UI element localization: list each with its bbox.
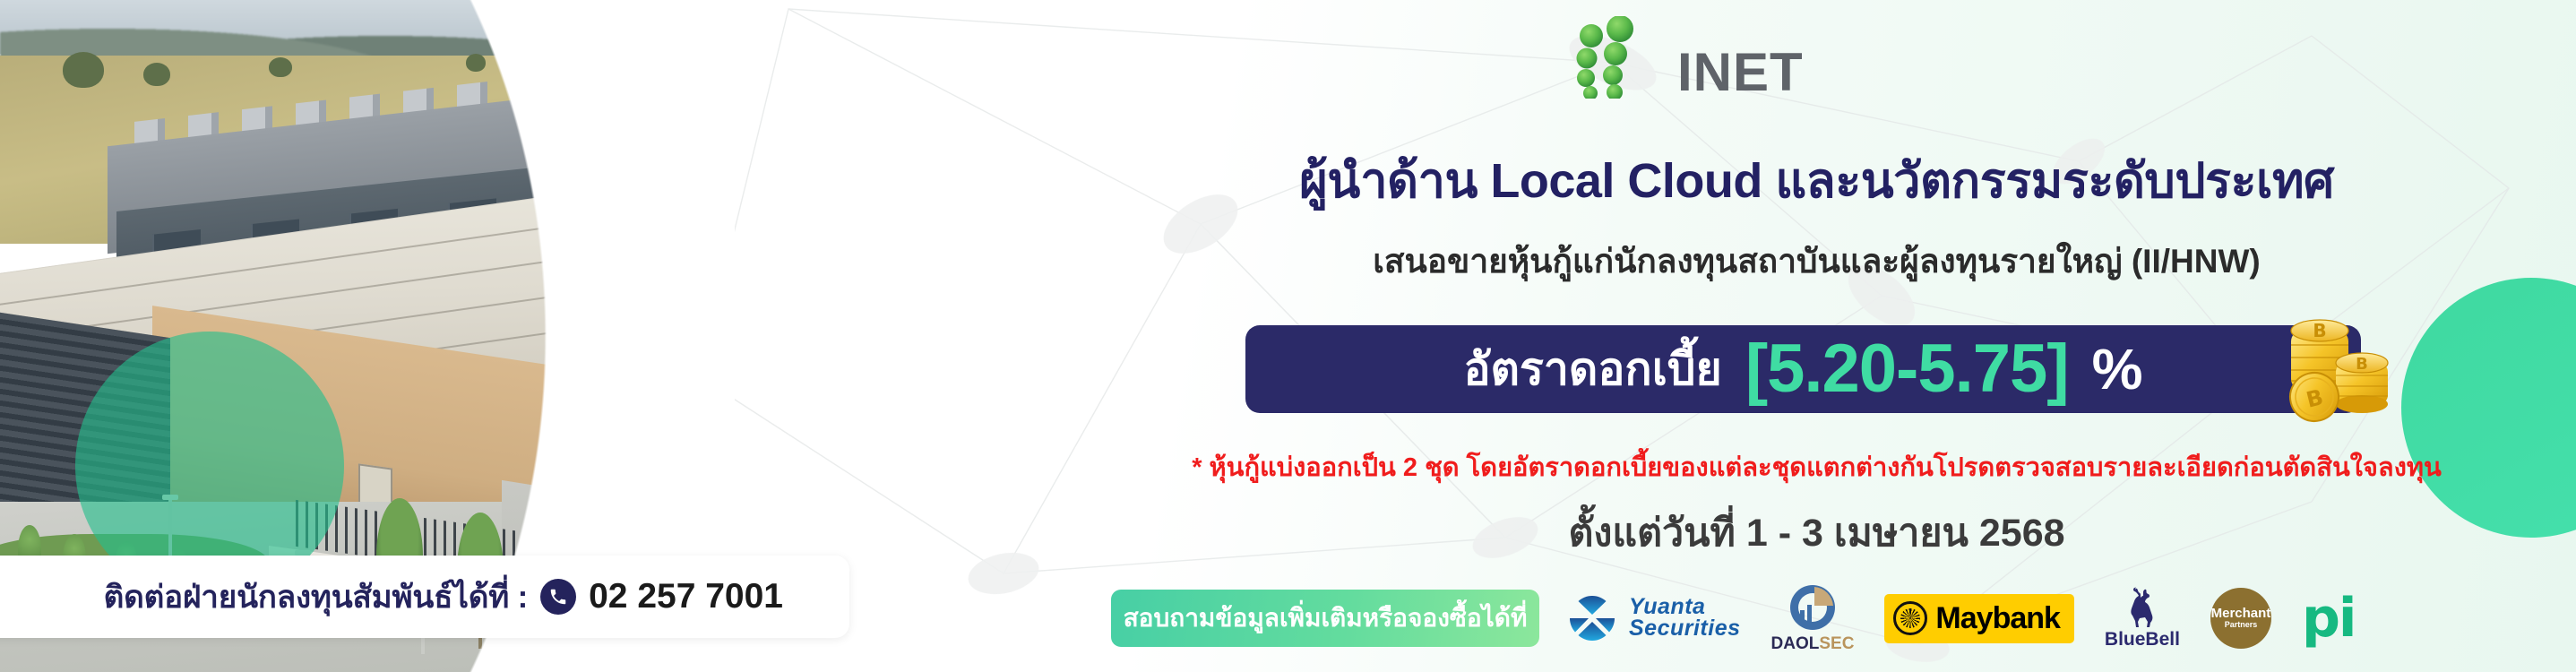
broker-logo-list: Yuanta Securities xyxy=(1566,583,2355,654)
phone-icon xyxy=(540,579,576,615)
daol-wordmark: DAOLSEC xyxy=(1771,634,1855,654)
broker-logo-yuanta-securities[interactable]: Yuanta Securities xyxy=(1566,592,1741,644)
cta-and-brokers-row: สอบถามข้อมูลเพิ่มเติมหรือจองซื้อได้ที่ xyxy=(1111,582,2545,654)
merchant-wordmark-line2: Partners xyxy=(2225,621,2258,629)
inet-logo-text: INET xyxy=(1677,41,1804,103)
broker-logo-merchant-partners[interactable]: Merchant Partners xyxy=(2210,588,2271,649)
broker-logo-pi-securities[interactable]: pi xyxy=(2302,597,2356,640)
broker-logo-bluebell[interactable]: BlueBell xyxy=(2105,587,2180,650)
svg-text:B: B xyxy=(2313,320,2326,341)
interest-rate-percent-sign: % xyxy=(2092,340,2143,398)
pi-wordmark: pi xyxy=(2302,597,2356,640)
yuanta-mark-icon xyxy=(1566,592,1618,644)
inet-bond-promo-banner: ติดต่อฝ่ายนักลงทุนสัมพันธ์ได้ที่ : 02 25… xyxy=(0,0,2576,672)
merchant-wordmark-line1: Merchant xyxy=(2211,607,2271,621)
contact-phone-number: 02 257 7001 xyxy=(589,577,783,616)
cta-label: สอบถามข้อมูลเพิ่มเติมหรือจองซื้อได้ที่ xyxy=(1124,599,1528,638)
content-column: INET ผู้นำด้าน Local Cloud และนวัตกรรมระ… xyxy=(1057,0,2576,672)
contact-label: ติดต่อฝ่ายนักลงทุนสัมพันธ์ได้ที่ : xyxy=(104,573,529,622)
inquire-subscribe-button[interactable]: สอบถามข้อมูลเพิ่มเติมหรือจองซื้อได้ที่ xyxy=(1111,590,1539,647)
bluebell-wordmark: BlueBell xyxy=(2105,629,2180,650)
broker-logo-maybank[interactable]: Maybank xyxy=(1884,594,2074,643)
offer-period: ตั้งแต่วันที่ 1 - 3 เมษายน 2568 xyxy=(1057,502,2576,563)
maybank-wordmark: Maybank xyxy=(1935,601,2060,636)
yuanta-wordmark: Yuanta Securities xyxy=(1629,597,1741,640)
disclaimer-note: * หุ้นกู้แบ่งออกเป็น 2 ชุด โดยอัตราดอกเบ… xyxy=(1057,446,2576,487)
investor-relations-contact[interactable]: ติดต่อฝ่ายนักลงทุนสัมพันธ์ได้ที่ : 02 25… xyxy=(0,556,849,638)
deer-icon xyxy=(2123,587,2162,628)
maybank-tiger-icon xyxy=(1893,601,1927,635)
gold-bitcoin-coins-icon: B B B xyxy=(2268,291,2402,426)
interest-rate-box: อัตราดอกเบี้ย [5.20-5.75] % xyxy=(1245,325,2361,413)
svg-text:B: B xyxy=(2356,355,2368,374)
broker-logo-daol-sec[interactable]: DAOLSEC xyxy=(1771,583,1855,654)
inet-bubbles-icon xyxy=(1559,16,1676,99)
interest-rate-value: [5.20-5.75] xyxy=(1745,335,2069,403)
page-subtitle: เสนอขายหุ้นกู้แก่นักลงทุนสถาบันและผู้ลงท… xyxy=(1057,235,2576,288)
inet-logo: INET xyxy=(1559,16,1882,99)
interest-rate-label: อัตราดอกเบี้ย xyxy=(1463,334,1721,405)
page-title: ผู้นำด้าน Local Cloud และนวัตกรรมระดับปร… xyxy=(1057,142,2576,219)
daol-mark-icon xyxy=(1788,583,1837,632)
